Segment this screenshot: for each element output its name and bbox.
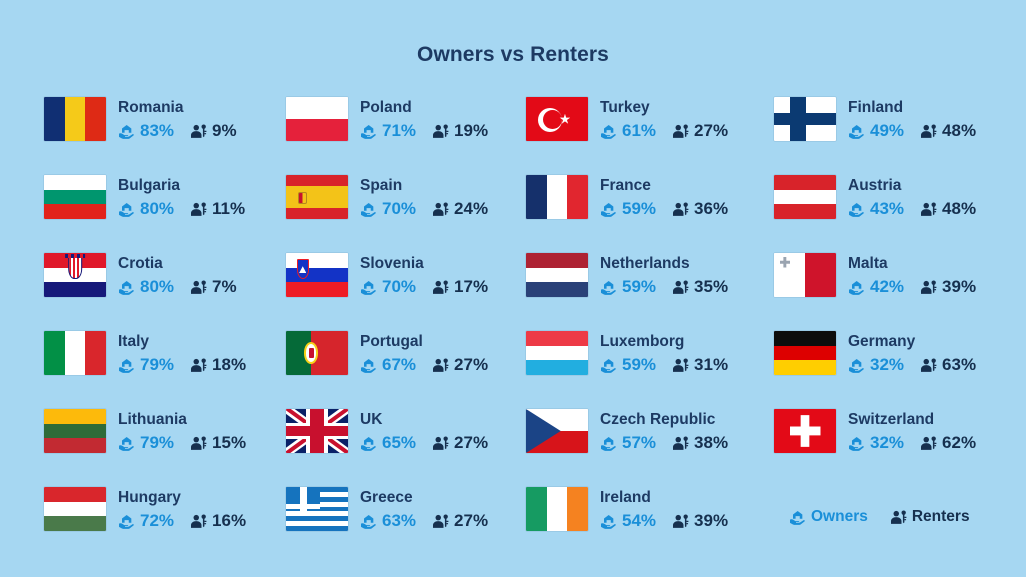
country-stats: 72% 16% (118, 511, 246, 531)
owners-stat: 80% (118, 199, 174, 219)
country-stats: 61% 27% (600, 121, 728, 141)
country-name: Bulgaria (118, 176, 245, 195)
renters-value: 27% (454, 355, 488, 375)
country-cell-turkey[interactable]: Turkey 61% (526, 97, 774, 175)
country-cell-italy[interactable]: Italy 79% (44, 331, 286, 409)
owners-value: 63% (382, 511, 416, 531)
renters-value: 39% (694, 511, 728, 531)
owners-value: 83% (140, 121, 174, 141)
owners-stat: 43% (848, 199, 904, 219)
house-in-hand-icon (848, 124, 865, 139)
country-stats: 67% 27% (360, 355, 488, 375)
owners-value: 57% (622, 433, 656, 453)
country-stats: 70% 17% (360, 277, 488, 297)
renters-stat: 7% (190, 277, 237, 297)
renters-stat: 27% (672, 121, 728, 141)
house-in-hand-icon (118, 202, 135, 217)
renters-value: 24% (454, 199, 488, 219)
country-name: Slovenia (360, 254, 488, 273)
renters-value: 9% (212, 121, 237, 141)
country-name: Crotia (118, 254, 237, 273)
country-stats: 57% 38% (600, 433, 728, 453)
person-with-key-icon (672, 436, 689, 451)
country-cell-crotia[interactable]: Crotia 80% (44, 253, 286, 331)
legend: Owners Renters (789, 507, 970, 527)
renters-value: 63% (942, 355, 976, 375)
country-cell-czech-republic[interactable]: Czech Republic 57% (526, 409, 774, 487)
country-stats: 80% 11% (118, 199, 245, 219)
renters-stat: 24% (432, 199, 488, 219)
owners-value: 71% (382, 121, 416, 141)
country-name: Hungary (118, 488, 246, 507)
flag-icon-slovenia (286, 253, 348, 297)
country-stats: 32% 62% (848, 433, 976, 453)
country-info: Austria 43% (848, 175, 976, 219)
country-name: Romania (118, 98, 237, 117)
flag-icon-hungary (44, 487, 106, 531)
country-stats: 42% 39% (848, 277, 976, 297)
legend-renters-label: Renters (912, 507, 970, 527)
person-with-key-icon (432, 202, 449, 217)
renters-stat: 15% (190, 433, 246, 453)
person-with-key-icon (432, 280, 449, 295)
owners-value: 54% (622, 511, 656, 531)
flag-icon-netherlands (526, 253, 588, 297)
country-info: Portugal 67% (360, 331, 488, 375)
person-with-key-icon (432, 124, 449, 139)
country-cell-poland[interactable]: Poland 71% (286, 97, 526, 175)
person-with-key-icon (190, 202, 207, 217)
country-info: Finland 49% (848, 97, 976, 141)
house-in-hand-icon (360, 358, 377, 373)
country-cell-germany[interactable]: Germany 32% (774, 331, 1010, 409)
country-info: Greece 63% (360, 487, 488, 531)
country-stats: 43% 48% (848, 199, 976, 219)
flag-icon-italy (44, 331, 106, 375)
country-cell-spain[interactable]: Spain 70% (286, 175, 526, 253)
country-name: Greece (360, 488, 488, 507)
owners-value: 72% (140, 511, 174, 531)
owners-stat: 80% (118, 277, 174, 297)
renters-stat: 48% (920, 199, 976, 219)
country-cell-austria[interactable]: Austria 43% (774, 175, 1010, 253)
country-stats: 63% 27% (360, 511, 488, 531)
country-info: Italy 79% (118, 331, 246, 375)
flag-icon-austria (774, 175, 836, 219)
renters-stat: 19% (432, 121, 488, 141)
owners-stat: 59% (600, 199, 656, 219)
person-with-key-icon (920, 280, 937, 295)
owners-value: 43% (870, 199, 904, 219)
owners-value: 42% (870, 277, 904, 297)
person-with-key-icon (672, 202, 689, 217)
renters-stat: 39% (920, 277, 976, 297)
country-stats: 70% 24% (360, 199, 488, 219)
renters-stat: 63% (920, 355, 976, 375)
flag-icon-france (526, 175, 588, 219)
person-with-key-icon (672, 280, 689, 295)
owners-value: 67% (382, 355, 416, 375)
flag-icon-crotia (44, 253, 106, 297)
renters-value: 16% (212, 511, 246, 531)
country-info: Ireland 54% (600, 487, 728, 531)
country-cell-malta[interactable]: Malta 42% (774, 253, 1010, 331)
renters-value: 27% (454, 433, 488, 453)
country-name: Poland (360, 98, 488, 117)
country-cell-netherlands[interactable]: Netherlands 59% (526, 253, 774, 331)
flag-icon-malta (774, 253, 836, 297)
legend-renters: Renters (890, 507, 970, 527)
flag-icon-finland (774, 97, 836, 141)
flag-icon-turkey (526, 97, 588, 141)
owners-stat: 61% (600, 121, 656, 141)
house-in-hand-icon (600, 514, 617, 529)
country-cell-slovenia[interactable]: Slovenia 70% (286, 253, 526, 331)
person-with-key-icon (190, 124, 207, 139)
flag-icon-czech-republic (526, 409, 588, 453)
country-cell-lithuania[interactable]: Lithuania 79% (44, 409, 286, 487)
person-with-key-icon (672, 358, 689, 373)
house-in-hand-icon (600, 202, 617, 217)
house-in-hand-icon (118, 124, 135, 139)
country-stats: 71% 19% (360, 121, 488, 141)
renters-stat: 17% (432, 277, 488, 297)
flag-icon-spain (286, 175, 348, 219)
country-cell-romania[interactable]: Romania 83% (44, 97, 286, 175)
country-info: Malta 42% (848, 253, 976, 297)
house-in-hand-icon (848, 280, 865, 295)
house-in-hand-icon (118, 358, 135, 373)
renters-value: 48% (942, 199, 976, 219)
person-with-key-icon (672, 124, 689, 139)
house-in-hand-icon (600, 436, 617, 451)
country-name: Spain (360, 176, 488, 195)
country-info: Czech Republic 57% (600, 409, 728, 453)
country-cell-finland[interactable]: Finland 49% (774, 97, 1010, 175)
renters-stat: 27% (432, 355, 488, 375)
house-in-hand-icon (600, 124, 617, 139)
owners-stat: 32% (848, 355, 904, 375)
house-in-hand-icon (118, 514, 135, 529)
owners-stat: 79% (118, 355, 174, 375)
country-name: Portugal (360, 332, 488, 351)
flag-icon-portugal (286, 331, 348, 375)
owners-stat: 71% (360, 121, 416, 141)
country-cell-uk[interactable]: UK 65% (286, 409, 526, 487)
country-info: Turkey 61% (600, 97, 728, 141)
country-cell-switzerland[interactable]: Switzerland 32% (774, 409, 1010, 487)
renters-value: 48% (942, 121, 976, 141)
country-info: Poland 71% (360, 97, 488, 141)
person-with-key-icon (920, 358, 937, 373)
house-in-hand-icon (360, 124, 377, 139)
owners-value: 59% (622, 199, 656, 219)
legend-owners-label: Owners (811, 507, 868, 527)
owners-value: 59% (622, 277, 656, 297)
renters-value: 11% (212, 199, 245, 219)
country-info: Netherlands 59% (600, 253, 728, 297)
house-in-hand-icon (360, 436, 377, 451)
owners-stat: 72% (118, 511, 174, 531)
page-title: Owners vs Renters (0, 0, 1026, 67)
renters-stat: 35% (672, 277, 728, 297)
country-cell-portugal[interactable]: Portugal 67% (286, 331, 526, 409)
renters-value: 15% (212, 433, 246, 453)
person-with-key-icon (432, 436, 449, 451)
country-info: Romania 83% (118, 97, 237, 141)
renters-value: 31% (694, 355, 728, 375)
renters-stat: 36% (672, 199, 728, 219)
owners-stat: 65% (360, 433, 416, 453)
country-cell-bulgaria[interactable]: Bulgaria 80% (44, 175, 286, 253)
renters-stat: 16% (190, 511, 246, 531)
renters-value: 62% (942, 433, 976, 453)
flag-icon-greece (286, 487, 348, 531)
infographic-page: Owners vs Renters Romania 83% (0, 0, 1026, 577)
country-stats: 83% 9% (118, 121, 237, 141)
country-stats: 65% 27% (360, 433, 488, 453)
person-with-key-icon (190, 358, 207, 373)
country-stats: 49% 48% (848, 121, 976, 141)
country-cell-ireland[interactable]: Ireland 54% (526, 487, 774, 565)
country-name: Lithuania (118, 410, 246, 429)
person-with-key-icon (432, 358, 449, 373)
country-stats: 79% 18% (118, 355, 246, 375)
flag-icon-ireland (526, 487, 588, 531)
renters-value: 27% (454, 511, 488, 531)
owners-stat: 59% (600, 277, 656, 297)
country-stats: 80% 7% (118, 277, 237, 297)
renters-value: 39% (942, 277, 976, 297)
renters-value: 38% (694, 433, 728, 453)
person-with-key-icon (920, 202, 937, 217)
country-grid: Romania 83% (0, 97, 1026, 565)
country-info: Hungary 72% (118, 487, 246, 531)
house-in-hand-icon (360, 202, 377, 217)
country-info: Luxemborg 59% (600, 331, 728, 375)
person-with-key-icon (190, 436, 207, 451)
country-info: Germany 32% (848, 331, 976, 375)
renters-stat: 38% (672, 433, 728, 453)
house-in-hand-icon (848, 358, 865, 373)
person-with-key-icon (920, 124, 937, 139)
owners-value: 59% (622, 355, 656, 375)
person-with-key-icon (890, 510, 907, 525)
owners-value: 49% (870, 121, 904, 141)
country-name: Netherlands (600, 254, 728, 273)
renters-value: 36% (694, 199, 728, 219)
flag-icon-luxemborg (526, 331, 588, 375)
flag-icon-germany (774, 331, 836, 375)
renters-value: 17% (454, 277, 488, 297)
owners-stat: 63% (360, 511, 416, 531)
renters-stat: 48% (920, 121, 976, 141)
owners-stat: 59% (600, 355, 656, 375)
owners-value: 70% (382, 277, 416, 297)
house-in-hand-icon (118, 436, 135, 451)
renters-value: 27% (694, 121, 728, 141)
house-in-hand-icon (360, 514, 377, 529)
country-name: Malta (848, 254, 976, 273)
country-stats: 54% 39% (600, 511, 728, 531)
renters-value: 19% (454, 121, 488, 141)
person-with-key-icon (920, 436, 937, 451)
owners-stat: 70% (360, 199, 416, 219)
owners-stat: 67% (360, 355, 416, 375)
country-name: Finland (848, 98, 976, 117)
owners-stat: 70% (360, 277, 416, 297)
country-name: Ireland (600, 488, 728, 507)
owners-value: 80% (140, 199, 174, 219)
flag-icon-switzerland (774, 409, 836, 453)
country-stats: 79% 15% (118, 433, 246, 453)
country-info: Switzerland 32% (848, 409, 976, 453)
country-stats: 59% 35% (600, 277, 728, 297)
country-name: France (600, 176, 728, 195)
flag-icon-lithuania (44, 409, 106, 453)
renters-value: 7% (212, 277, 237, 297)
flag-icon-poland (286, 97, 348, 141)
house-in-hand-icon (848, 436, 865, 451)
renters-stat: 31% (672, 355, 728, 375)
owners-value: 65% (382, 433, 416, 453)
country-stats: 32% 63% (848, 355, 976, 375)
country-info: Crotia 80% (118, 253, 237, 297)
country-name: Italy (118, 332, 246, 351)
owners-value: 70% (382, 199, 416, 219)
country-name: Turkey (600, 98, 728, 117)
person-with-key-icon (190, 514, 207, 529)
renters-stat: 39% (672, 511, 728, 531)
legend-owners: Owners (789, 507, 868, 527)
country-stats: 59% 31% (600, 355, 728, 375)
renters-stat: 27% (432, 433, 488, 453)
house-in-hand-icon (848, 202, 865, 217)
house-in-hand-icon (600, 280, 617, 295)
country-name: Czech Republic (600, 410, 728, 429)
country-name: Luxemborg (600, 332, 728, 351)
owners-value: 32% (870, 433, 904, 453)
country-stats: 59% 36% (600, 199, 728, 219)
owners-stat: 54% (600, 511, 656, 531)
person-with-key-icon (190, 280, 207, 295)
person-with-key-icon (672, 514, 689, 529)
house-in-hand-icon (789, 510, 806, 525)
country-info: France 59% (600, 175, 728, 219)
house-in-hand-icon (360, 280, 377, 295)
country-name: Switzerland (848, 410, 976, 429)
country-info: Slovenia 70% (360, 253, 488, 297)
flag-icon-bulgaria (44, 175, 106, 219)
country-info: Bulgaria 80% (118, 175, 245, 219)
renters-value: 35% (694, 277, 728, 297)
flag-icon-uk (286, 409, 348, 453)
renters-stat: 18% (190, 355, 246, 375)
owners-value: 32% (870, 355, 904, 375)
house-in-hand-icon (600, 358, 617, 373)
owners-stat: 49% (848, 121, 904, 141)
owners-value: 79% (140, 433, 174, 453)
country-cell-france[interactable]: France 59% (526, 175, 774, 253)
house-in-hand-icon (118, 280, 135, 295)
renters-stat: 11% (190, 199, 245, 219)
country-name: Austria (848, 176, 976, 195)
renters-value: 18% (212, 355, 246, 375)
person-with-key-icon (432, 514, 449, 529)
owners-value: 79% (140, 355, 174, 375)
owners-stat: 42% (848, 277, 904, 297)
renters-stat: 62% (920, 433, 976, 453)
country-cell-luxemborg[interactable]: Luxemborg 59% (526, 331, 774, 409)
flag-icon-romania (44, 97, 106, 141)
country-cell-hungary[interactable]: Hungary 72% (44, 487, 286, 565)
country-info: Lithuania 79% (118, 409, 246, 453)
country-info: UK 65% (360, 409, 488, 453)
country-cell-greece[interactable]: Greece 63% (286, 487, 526, 565)
owners-stat: 83% (118, 121, 174, 141)
country-name: UK (360, 410, 488, 429)
owners-stat: 32% (848, 433, 904, 453)
owners-value: 80% (140, 277, 174, 297)
country-info: Spain 70% (360, 175, 488, 219)
country-name: Germany (848, 332, 976, 351)
renters-stat: 9% (190, 121, 237, 141)
renters-stat: 27% (432, 511, 488, 531)
owners-stat: 79% (118, 433, 174, 453)
owners-stat: 57% (600, 433, 656, 453)
owners-value: 61% (622, 121, 656, 141)
